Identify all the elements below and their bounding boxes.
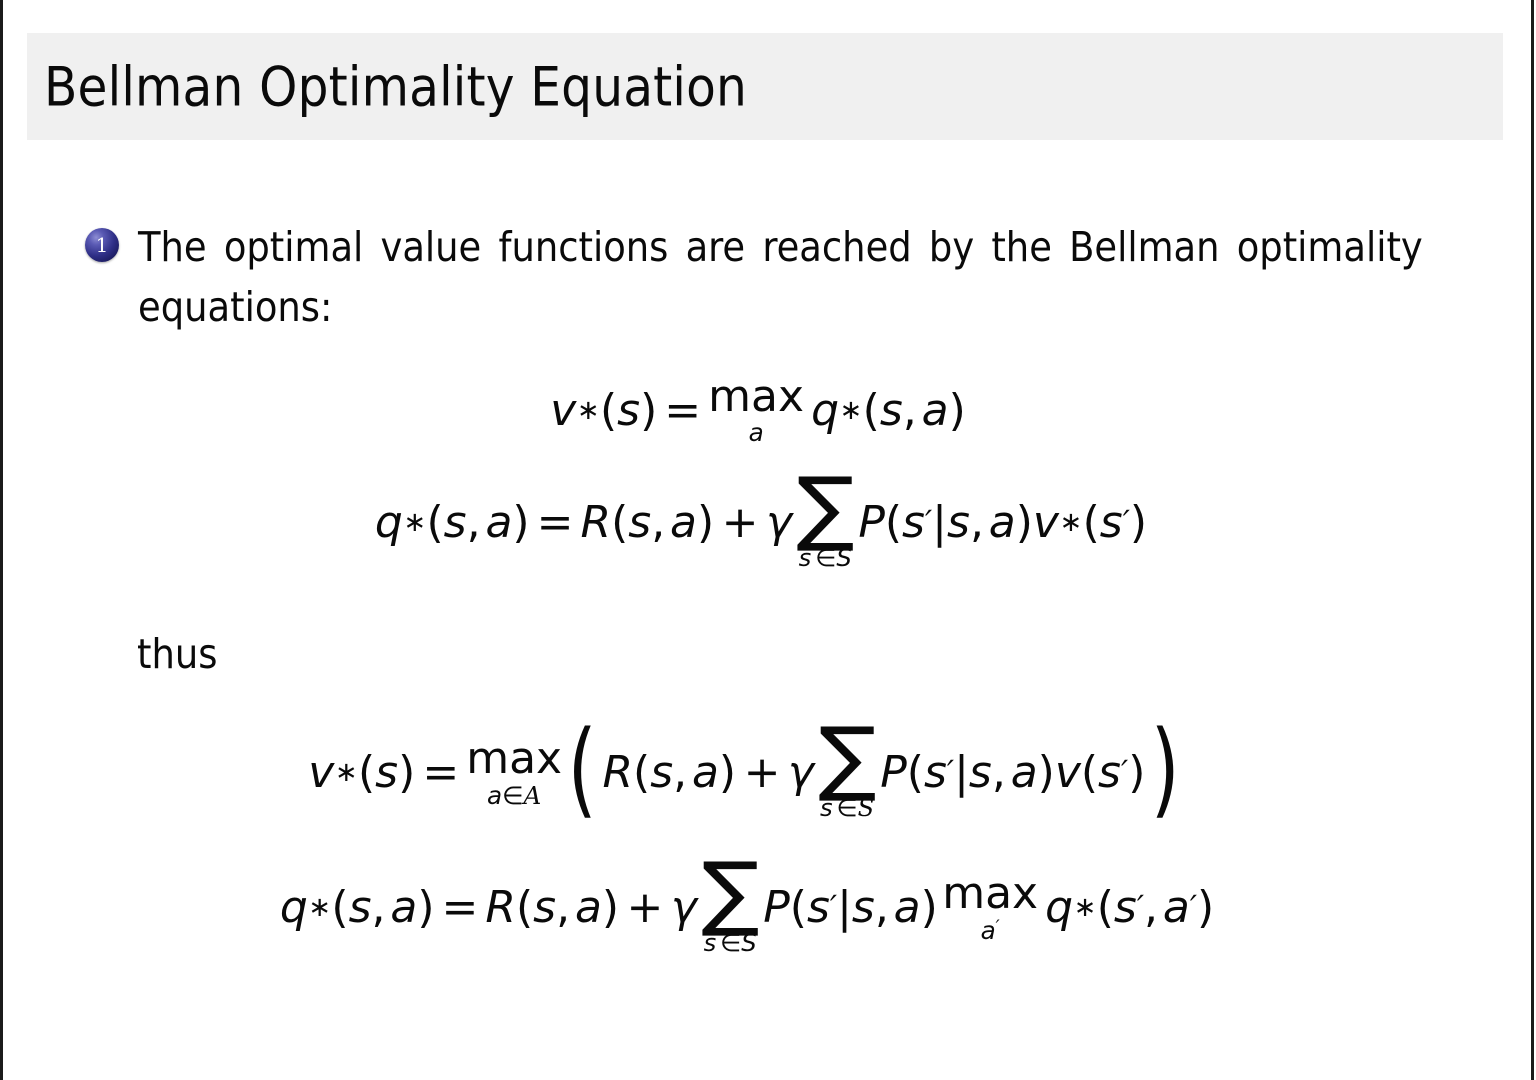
eq3-max-sub-var: a xyxy=(487,781,502,810)
bullet-text-line-1: The optimal value functions are reached … xyxy=(138,218,1423,278)
page-title: Bellman Optimality Equation xyxy=(44,55,747,118)
eq3-value: v xyxy=(1055,747,1081,798)
eq2-q-arg1: s xyxy=(444,497,467,548)
eq4-P-arg2: a xyxy=(894,882,921,933)
eq2-q-star: ∗ xyxy=(403,507,426,538)
eq2-q: q xyxy=(375,497,403,548)
eq4-P-bar: | xyxy=(837,882,852,933)
equation-1-content: v∗(s) = max a q∗(s,a) xyxy=(550,375,966,446)
eq4-qnext-star: ∗ xyxy=(1074,892,1097,923)
eq3-P-comma: , xyxy=(992,747,1006,798)
eq4-sigma-icon: ∑ xyxy=(701,860,759,927)
eq4-q-comma: , xyxy=(372,882,386,933)
eq4-P-open: ( xyxy=(790,882,807,933)
eq2-P-close: ) xyxy=(1016,497,1033,548)
eq4-q-open: ( xyxy=(331,882,348,933)
eq3-R-open: ( xyxy=(633,747,650,798)
equation-1: v∗(s) = max a q∗(s,a) xyxy=(27,375,1503,446)
enumerate-ball-number: 1 xyxy=(85,228,119,262)
slide-title-bar: Bellman Optimality Equation xyxy=(27,33,1503,140)
eq1-q-close: ) xyxy=(949,385,966,436)
eq4-qnext-arg2: a xyxy=(1163,882,1190,933)
eq4-max-subscript: a′ xyxy=(981,919,1000,944)
equation-2-content: q∗(s,a) = R(s,a) + γ ∑ s′∈S P(s′|s,a)v∗(… xyxy=(375,475,1147,570)
eq4-gamma: γ xyxy=(671,882,697,933)
eq4-P: P xyxy=(763,882,790,933)
eq3-equals: = xyxy=(422,747,459,798)
eq1-state: s xyxy=(617,385,640,436)
eq3-max-sub-in: ∈ xyxy=(502,781,523,810)
eq2-v-prime: ′ xyxy=(1123,505,1130,541)
eq3-v-open: ( xyxy=(358,747,375,798)
eq1-q: q xyxy=(811,385,839,436)
eq2-gamma: γ xyxy=(766,497,792,548)
eq2-sigma-icon: ∑ xyxy=(796,475,854,542)
eq4-P-arg1: s xyxy=(852,882,875,933)
eq1-q-star: ∗ xyxy=(840,395,863,426)
eq2-q-comma: , xyxy=(467,497,481,548)
eq3-P-arg2: a xyxy=(1011,747,1038,798)
eq1-v-star: ∗ xyxy=(577,395,600,426)
eq4-P-close: ) xyxy=(921,882,938,933)
equation-3: v∗(s) = max a∈A ( R(s,a) + γ ∑ s′∈S P(s′… xyxy=(27,725,1503,820)
eq3-P-next: s xyxy=(924,747,947,798)
eq2-R: R xyxy=(581,497,612,548)
eq4-summation: ∑ s′∈S xyxy=(703,860,758,955)
eq2-plus: + xyxy=(722,497,759,548)
eq4-qnext-prime2: ′ xyxy=(1190,890,1197,926)
eq2-equals: = xyxy=(537,497,574,548)
eq1-max-operator: max a xyxy=(708,375,804,446)
connector-text: thus xyxy=(137,630,217,678)
eq4-R-arg1: s xyxy=(533,882,556,933)
eq3-big-close-paren: ) xyxy=(1151,733,1180,805)
eq3-plus: + xyxy=(744,747,781,798)
bullet-text: The optimal value functions are reached … xyxy=(138,218,1423,338)
bullet-text-line-2: equations: xyxy=(138,278,1423,338)
eq4-qnext-arg1: s xyxy=(1114,882,1137,933)
eq3-max-operator: max a∈A xyxy=(466,737,562,808)
eq4-R-close: ) xyxy=(602,882,619,933)
eq3-R-arg1: s xyxy=(650,747,673,798)
eq1-equals: = xyxy=(664,385,701,436)
eq3-value-close: ) xyxy=(1128,747,1145,798)
eq2-P: P xyxy=(858,497,885,548)
eq4-R: R xyxy=(485,882,516,933)
eq2-P-prime: ′ xyxy=(925,505,932,541)
slide-canvas: Bellman Optimality Equation 1 The optima… xyxy=(0,0,1536,1080)
eq1-q-arg2: a xyxy=(922,385,949,436)
eq4-R-arg2: a xyxy=(575,882,602,933)
eq4-q-close: ) xyxy=(417,882,434,933)
slide-frame-rule-right xyxy=(1531,0,1534,1080)
equation-3-content: v∗(s) = max a∈A ( R(s,a) + γ ∑ s′∈S P(s′… xyxy=(308,725,1185,820)
eq2-P-arg2: a xyxy=(989,497,1016,548)
eq2-R-arg2: a xyxy=(670,497,697,548)
eq1-q-comma: , xyxy=(903,385,917,436)
eq2-summation: ∑ s′∈S xyxy=(798,475,853,570)
eq4-equals: = xyxy=(442,882,479,933)
eq3-v-star: ∗ xyxy=(335,757,358,788)
eq4-q-arg2: a xyxy=(390,882,417,933)
eq4-plus: + xyxy=(627,882,664,933)
slide-body: 1 The optimal value functions are reache… xyxy=(27,180,1503,1060)
eq2-q-open: ( xyxy=(427,497,444,548)
eq3-value-open: ( xyxy=(1081,747,1098,798)
eq4-P-comma: , xyxy=(875,882,889,933)
eq2-P-bar: | xyxy=(932,497,947,548)
eq3-P: P xyxy=(880,747,907,798)
eq3-v: v xyxy=(308,747,334,798)
eq4-max-sub-prime: ′ xyxy=(996,917,1000,937)
eq2-P-next: s xyxy=(902,497,925,548)
equation-4: q∗(s,a) = R(s,a) + γ ∑ s′∈S P(s′|s,a) ma… xyxy=(27,860,1503,955)
eq2-R-close: ) xyxy=(697,497,714,548)
eq3-max-subscript: a∈A xyxy=(487,784,541,809)
eq3-gamma: γ xyxy=(788,747,814,798)
eq3-sigma-icon: ∑ xyxy=(818,725,876,792)
eq3-v-close: ) xyxy=(398,747,415,798)
eq4-q-star: ∗ xyxy=(308,892,331,923)
eq4-R-comma: , xyxy=(556,882,570,933)
eq2-v: v xyxy=(1033,497,1059,548)
eq2-v-star: ∗ xyxy=(1059,507,1082,538)
eq2-q-close: ) xyxy=(512,497,529,548)
eq3-P-prime: ′ xyxy=(947,755,954,791)
eq1-max-label: max xyxy=(708,375,804,419)
eq4-P-next: s xyxy=(807,882,830,933)
eq4-max-operator: max a′ xyxy=(942,872,1038,943)
eq1-max-subscript: a xyxy=(749,421,764,446)
eq3-R-arg2: a xyxy=(692,747,719,798)
eq4-max-sub-var: a xyxy=(981,916,996,945)
eq2-R-arg1: s xyxy=(628,497,651,548)
eq1-open-paren: ( xyxy=(600,385,617,436)
eq1-v: v xyxy=(550,385,576,436)
eq4-qnext: q xyxy=(1045,882,1073,933)
eq2-v-close: ) xyxy=(1130,497,1147,548)
eq2-P-arg1: s xyxy=(947,497,970,548)
eq2-v-arg: s xyxy=(1100,497,1123,548)
eq3-R: R xyxy=(602,747,633,798)
eq3-max-sub-set: A xyxy=(524,781,542,810)
eq3-R-close: ) xyxy=(719,747,736,798)
eq3-value-arg: s xyxy=(1098,747,1121,798)
eq3-max-label: max xyxy=(466,737,562,781)
eq3-v-arg: s xyxy=(375,747,398,798)
eq4-max-label: max xyxy=(942,872,1038,916)
eq4-qnext-prime1: ′ xyxy=(1137,890,1144,926)
eq4-qnext-open: ( xyxy=(1097,882,1114,933)
enumerate-ball-icon: 1 xyxy=(85,228,119,262)
eq3-summation: ∑ s′∈S xyxy=(820,725,875,820)
equation-2: q∗(s,a) = R(s,a) + γ ∑ s′∈S P(s′|s,a)v∗(… xyxy=(27,475,1503,570)
eq4-P-prime: ′ xyxy=(830,890,837,926)
eq3-P-open: ( xyxy=(907,747,924,798)
eq1-q-open: ( xyxy=(863,385,880,436)
eq3-R-comma: , xyxy=(673,747,687,798)
eq4-R-open: ( xyxy=(516,882,533,933)
eq2-P-comma: , xyxy=(970,497,984,548)
eq2-R-open: ( xyxy=(611,497,628,548)
eq3-P-arg1: s xyxy=(969,747,992,798)
slide-frame-rule-left xyxy=(0,0,3,1080)
eq2-v-open: ( xyxy=(1083,497,1100,548)
eq3-P-close: ) xyxy=(1038,747,1055,798)
eq4-qnext-close: ) xyxy=(1197,882,1214,933)
eq4-q: q xyxy=(280,882,308,933)
eq3-P-bar: | xyxy=(954,747,969,798)
eq3-big-open-paren: ( xyxy=(568,733,597,805)
eq1-q-arg1: s xyxy=(880,385,903,436)
eq1-close-paren: ) xyxy=(640,385,657,436)
list-item: 1 The optimal value functions are reache… xyxy=(85,218,1445,338)
eq3-value-prime: ′ xyxy=(1121,755,1128,791)
eq4-q-arg1: s xyxy=(349,882,372,933)
eq2-R-comma: , xyxy=(651,497,665,548)
eq4-qnext-comma: , xyxy=(1144,882,1158,933)
eq2-P-open: ( xyxy=(885,497,902,548)
equation-4-content: q∗(s,a) = R(s,a) + γ ∑ s′∈S P(s′|s,a) ma… xyxy=(280,860,1214,955)
eq2-q-arg2: a xyxy=(485,497,512,548)
